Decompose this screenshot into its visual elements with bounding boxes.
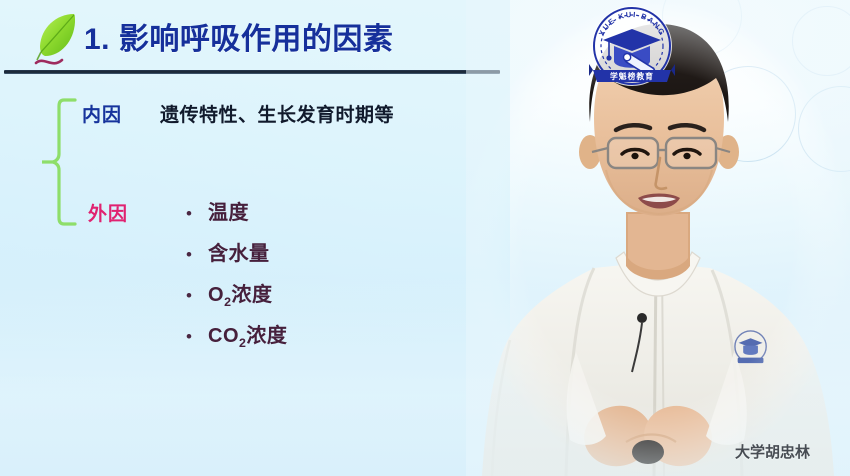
bullet-tail: 浓度: [246, 325, 287, 347]
outer-cause-bullet-list: • 温度 • 含水量 • O2浓度 • CO2浓度: [186, 196, 287, 360]
bullet-tail: 浓度: [231, 284, 272, 306]
list-item: • O2浓度: [186, 278, 287, 319]
bullet-label: 温度: [208, 196, 249, 227]
bullet-label: 含水量: [208, 237, 270, 268]
list-item: • 含水量: [186, 237, 287, 278]
bullet-main: 温度: [208, 202, 249, 224]
slide-stage: 1. 影响呼吸作用的因素 内因 遗传特性、生长发育时期等 外因 • 温度 • 含…: [0, 0, 850, 476]
list-item: • CO2浓度: [186, 319, 287, 360]
bullet-label: O2浓度: [208, 278, 272, 309]
bullet-dot-icon: •: [186, 205, 208, 222]
brand-logo: XUE KUI BANG 学魁榜教育: [589, 2, 675, 90]
brand-ribbon-text: 学魁榜教育: [610, 71, 654, 81]
leaf-icon: [28, 8, 90, 70]
bullet-main: 含水量: [208, 243, 270, 265]
watermark-text: 大学胡忠林: [735, 441, 810, 462]
bullet-dot-icon: •: [186, 246, 208, 263]
bullet-main: CO: [208, 325, 239, 347]
outer-cause-label: 外因: [88, 199, 128, 226]
list-item: • 温度: [186, 196, 287, 237]
bullet-main: O: [208, 284, 224, 306]
inner-cause-detail: 遗传特性、生长发育时期等: [160, 100, 394, 127]
bullet-label: CO2浓度: [208, 319, 287, 350]
page-title: 1. 影响呼吸作用的因素: [84, 14, 393, 58]
bullet-dot-icon: •: [186, 287, 208, 304]
title-underline: [4, 70, 500, 74]
bullet-dot-icon: •: [186, 328, 208, 345]
inner-cause-label: 内因: [82, 100, 122, 127]
